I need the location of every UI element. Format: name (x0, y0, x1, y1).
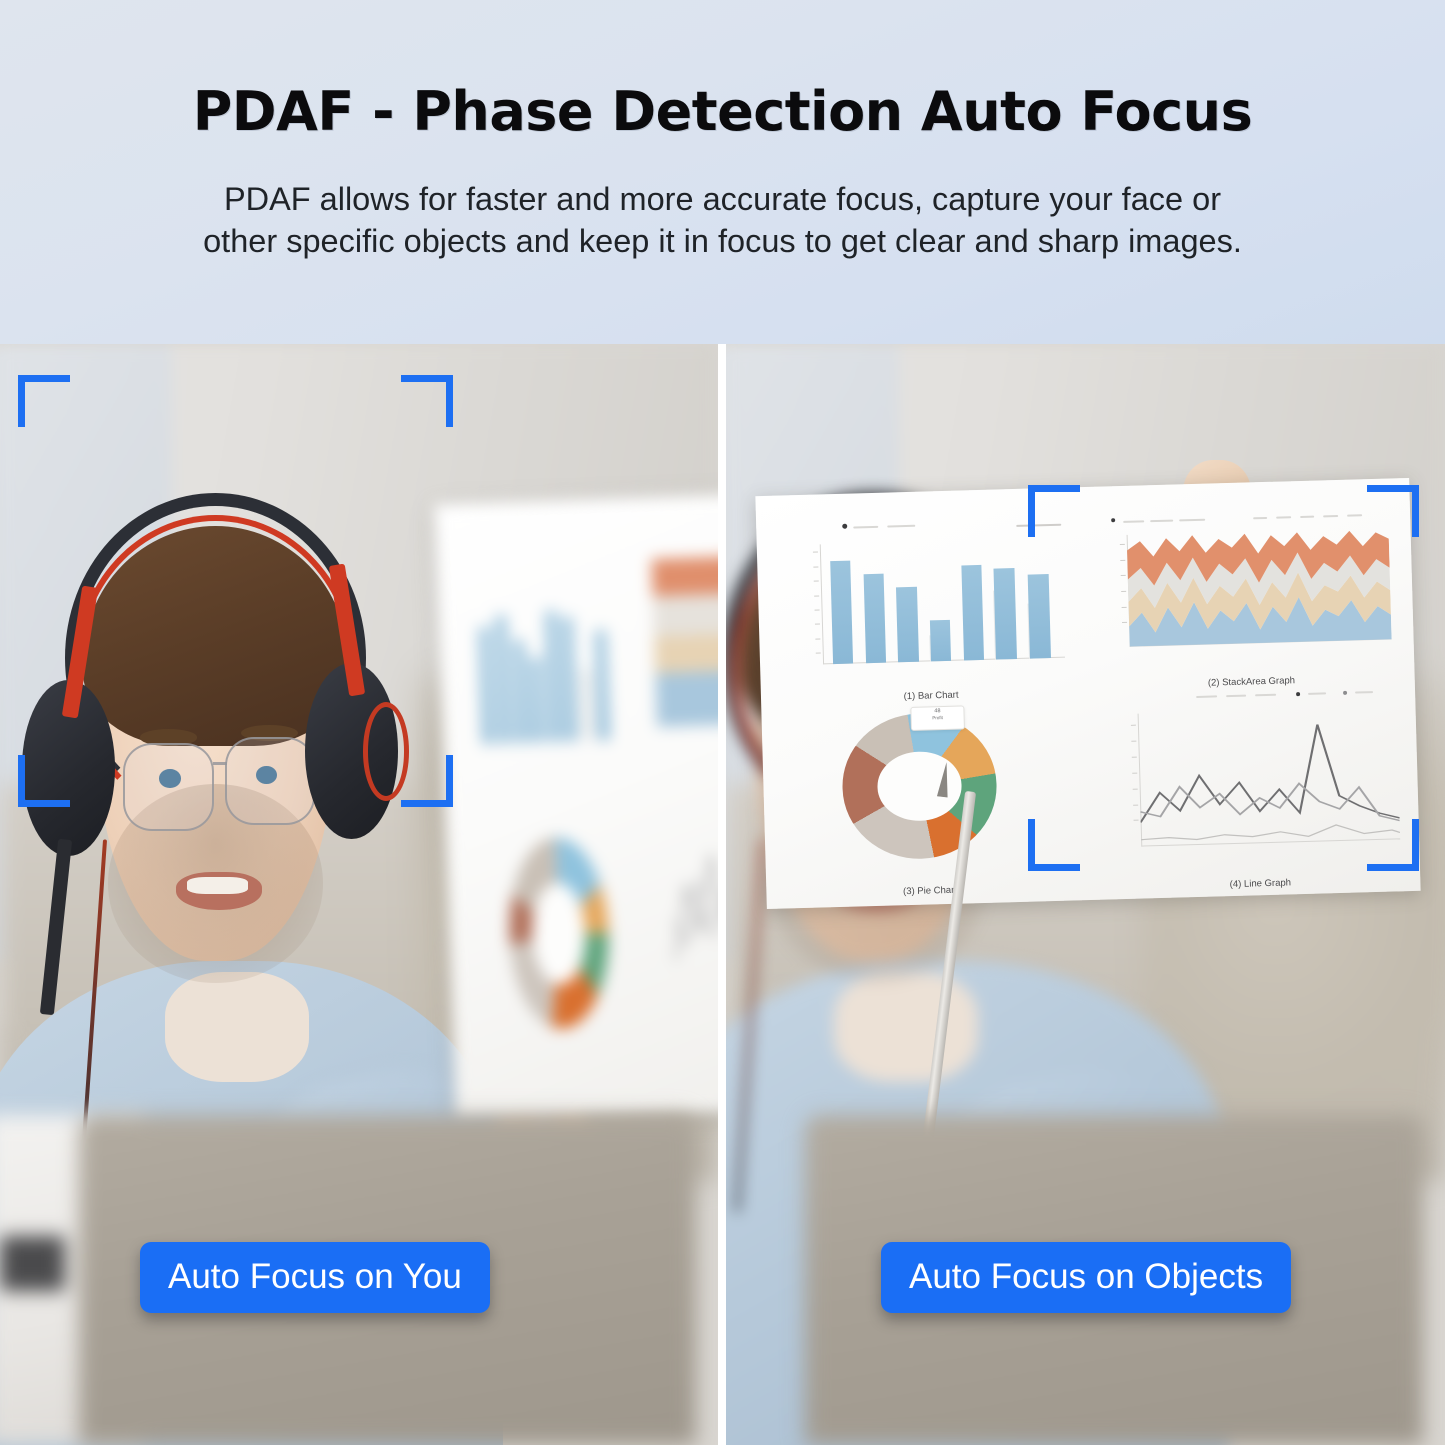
cta-auto-focus-on-objects[interactable]: Auto Focus on Objects (881, 1242, 1291, 1313)
focus-bracket-document (1028, 485, 1419, 871)
focus-corner-top-left (1028, 485, 1080, 537)
cta-auto-focus-on-you[interactable]: Auto Focus on You (140, 1242, 490, 1313)
focus-corner-top-right (1367, 485, 1419, 537)
panel-divider (718, 344, 726, 1445)
focus-bracket-face (18, 375, 453, 807)
focus-corner-top-right (401, 375, 453, 427)
focus-corner-bottom-left (18, 755, 70, 807)
header-banner: PDAF - Phase Detection Auto Focus PDAF a… (0, 0, 1445, 344)
focus-corner-top-left (18, 375, 70, 427)
subtitle-line-1: PDAF allows for faster and more accurate… (118, 178, 1328, 220)
focus-corner-bottom-right (1367, 819, 1419, 871)
focus-corner-bottom-right (401, 755, 453, 807)
focus-corner-bottom-left (1028, 819, 1080, 871)
page-subtitle: PDAF allows for faster and more accurate… (118, 178, 1328, 262)
desk-object (0, 1236, 65, 1291)
subtitle-line-2: other specific objects and keep it in fo… (118, 220, 1328, 262)
page-title: PDAF - Phase Detection Auto Focus (0, 80, 1445, 143)
pdaf-feature-graphic: PDAF - Phase Detection Auto Focus PDAF a… (0, 0, 1445, 1445)
